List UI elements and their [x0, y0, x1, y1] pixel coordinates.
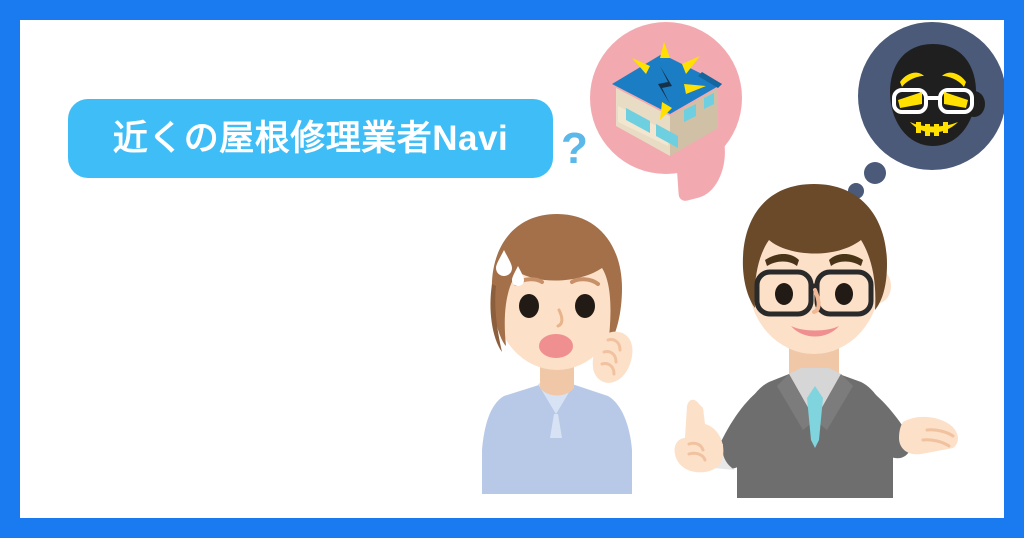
question-mark-decoration: ? — [561, 127, 588, 171]
site-name-badge[interactable]: 近くの屋根修理業者Navi — [68, 99, 553, 178]
pointing-businessman-character — [665, 168, 965, 498]
damaged-roof-house-icon — [602, 32, 730, 160]
site-name-badge-label: 近くの屋根修理業者Navi — [113, 121, 508, 156]
worried-woman-character — [460, 188, 675, 498]
banner-canvas: 近くの屋根修理業者Navi ? — [20, 20, 1004, 518]
villain-face-icon — [880, 42, 986, 152]
thumbnail-banner: 近くの屋根修理業者Navi ? — [0, 0, 1024, 538]
